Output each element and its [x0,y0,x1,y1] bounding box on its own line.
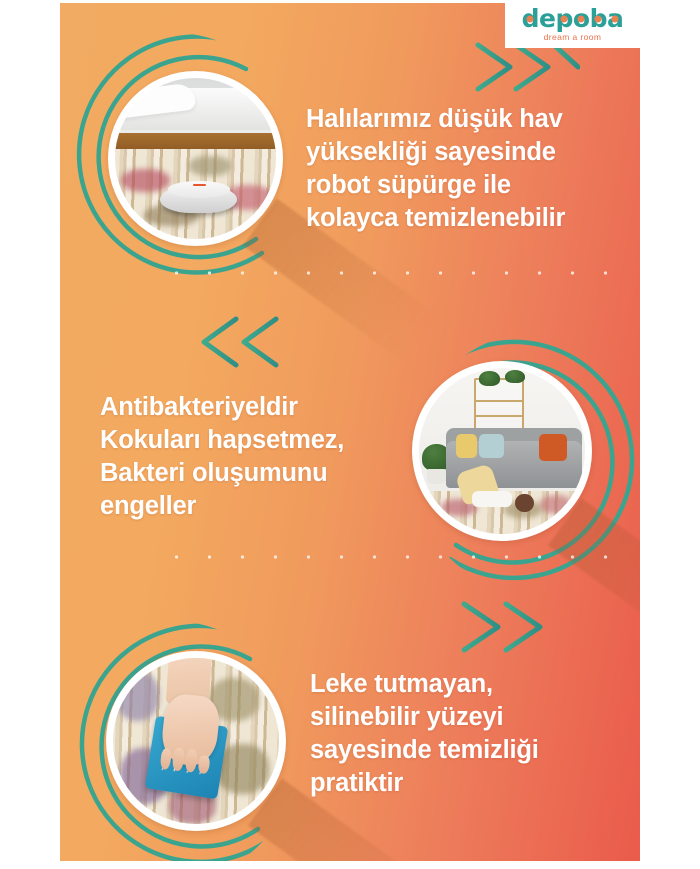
feature-line: yüksekliği sayesinde [306,136,565,169]
feature-line: silinebilir yüzeyi [310,701,539,734]
logo-letter-d: d [522,4,539,33]
arrow-right-bottom [220,598,640,656]
logo-letter-o: o [573,4,590,33]
logo-letter-a: a [607,4,623,33]
poster-canvas: Halılarımız düşük hav yüksekliği sayesin… [60,3,640,861]
feature-line: Halılarımız düşük hav [306,103,565,136]
feature-line: sayesinde temizliği [310,734,539,767]
feature-line: engeller [100,490,344,523]
feature-line: Antibakteriyeldir [100,391,344,424]
feature-image-robot-vacuum [108,71,283,246]
logo-letter-p: p [556,4,573,33]
feature-image-stain-resistant [106,651,286,831]
logo-letter-e: e [539,4,555,33]
arrow-left-middle [100,311,540,371]
feature-image-antibacterial [412,361,592,541]
feature-line: Leke tutmayan, [310,668,539,701]
brand-tagline: dream a room [544,32,602,42]
brand-logo-wordmark: depoba [522,6,624,31]
feature-line: kolayca temizlenebilir [306,202,565,235]
feature-line: pratiktir [310,767,539,800]
dotted-separator-2 [160,555,620,559]
feature-text-robot-vacuum: Halılarımız düşük hav yüksekliği sayesin… [306,103,565,236]
brand-logo[interactable]: depoba dream a room [505,0,640,48]
feature-text-antibacterial: Antibakteriyeldir Kokuları hapsetmez, Ba… [100,391,344,524]
feature-text-stain-resistant: Leke tutmayan, silinebilir yüzeyi sayesi… [310,668,539,801]
feature-line: Bakteri oluşumunu [100,457,344,490]
feature-line: robot süpürge ile [306,169,565,202]
dotted-separator-1 [160,271,620,275]
logo-letter-b: b [590,4,607,33]
infographic-poster: Halılarımız düşük hav yüksekliği sayesin… [0,0,700,869]
feature-line: Kokuları hapsetmez, [100,424,344,457]
